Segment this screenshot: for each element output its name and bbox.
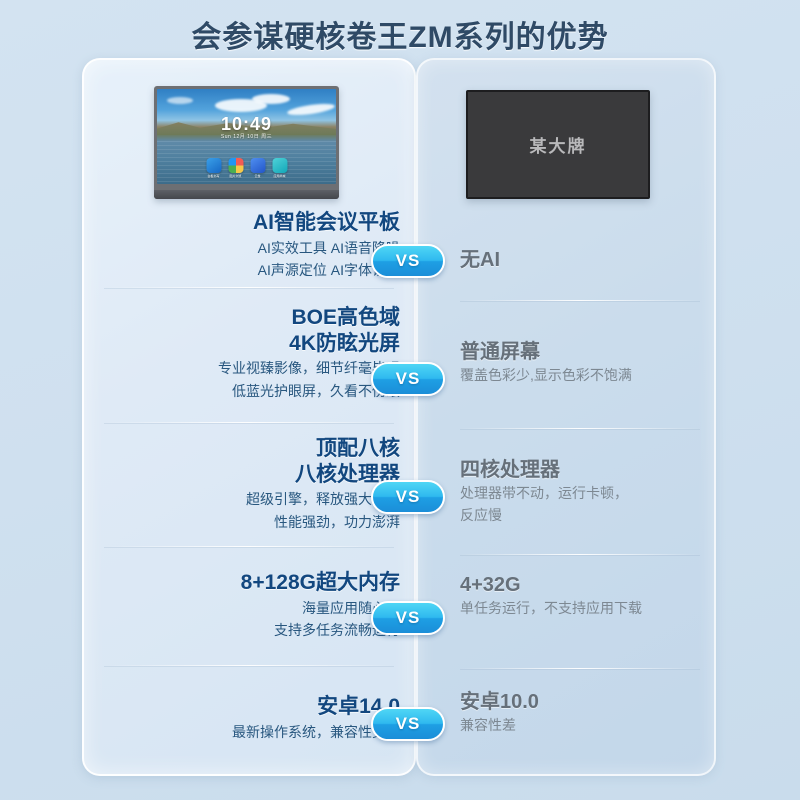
feature-row-right-2: 普通屏幕 覆盖色彩少,显示色彩不饱满 bbox=[460, 340, 710, 386]
divider-right bbox=[460, 428, 700, 429]
feature-row-right-4: 4+32G 单任务运行，不支持应用下载 bbox=[460, 573, 710, 619]
vs-badge-4: VS bbox=[371, 601, 445, 635]
feature-row-right-3: 四核处理器 处理器带不动，运行卡顿， 反应慢 bbox=[460, 458, 710, 525]
product-device-image: 10:49 Sun 12月 10日 周三 白板书写 图片浏览 云盘 应用商城 bbox=[154, 86, 339, 199]
feature-subline: 专业视臻影像，细节纤毫毕现 bbox=[100, 358, 400, 378]
vs-badge-3: VS bbox=[371, 480, 445, 514]
feature-row-right-5: 安卓10.0 兼容性差 bbox=[460, 690, 710, 736]
feature-headline: 安卓14.0 bbox=[100, 694, 400, 720]
rival-device-image: 某大牌 bbox=[466, 90, 650, 199]
feature-subline: 性能强劲，功力澎湃 bbox=[100, 512, 400, 532]
rival-subline: 兼容性差 bbox=[460, 716, 710, 736]
feature-row-left-3: 顶配八核 八核处理器 超级引擎，释放强大算力 性能强劲，功力澎湃 bbox=[100, 436, 400, 532]
dock-app-label: 应用商城 bbox=[272, 174, 287, 178]
divider-left bbox=[104, 665, 394, 666]
rival-headline: 普通屏幕 bbox=[460, 340, 710, 364]
dock-app-label: 云盘 bbox=[250, 174, 265, 178]
gallery-icon bbox=[228, 158, 243, 173]
rival-subline: 反应慢 bbox=[460, 506, 710, 526]
device-date: Sun 12月 10日 周三 bbox=[157, 133, 336, 140]
divider-right bbox=[460, 668, 700, 669]
divider-right bbox=[460, 554, 700, 555]
divider-right bbox=[460, 300, 700, 301]
feature-row-left-5: 安卓14.0 最新操作系统，兼容性更强 bbox=[100, 694, 400, 742]
dock-app-label: 白板书写 bbox=[206, 174, 221, 178]
feature-row-left-2: BOE高色域 4K防眩光屏 专业视臻影像，细节纤毫毕现 低蓝光护眼屏，久看不伤眼 bbox=[100, 305, 400, 401]
rival-headline: 4+32G bbox=[460, 573, 710, 597]
dock-app: 应用商城 bbox=[272, 158, 287, 178]
device-dock: 白板书写 图片浏览 云盘 应用商城 bbox=[206, 158, 287, 178]
feature-headline: AI智能会议平板 bbox=[100, 210, 400, 236]
rival-headline: 四核处理器 bbox=[460, 458, 710, 482]
dock-app: 云盘 bbox=[250, 158, 265, 178]
cloud-drive-icon bbox=[250, 158, 265, 173]
dock-app-label: 图片浏览 bbox=[228, 174, 243, 178]
feature-subline: 支持多任务流畅运行 bbox=[100, 620, 400, 640]
vs-badge-5: VS bbox=[371, 707, 445, 741]
feature-row-right-1: 无AI bbox=[460, 248, 710, 272]
feature-headline: BOE高色域 bbox=[100, 305, 400, 331]
rival-headline: 安卓10.0 bbox=[460, 690, 710, 714]
divider-left bbox=[104, 287, 394, 288]
feature-headline: 4K防眩光屏 bbox=[100, 331, 400, 357]
rival-subline: 处理器带不动，运行卡顿， bbox=[460, 484, 710, 504]
feature-headline: 8+128G超大内存 bbox=[100, 570, 400, 596]
vs-badge-1: VS bbox=[371, 244, 445, 278]
feature-headline: 八核处理器 bbox=[100, 462, 400, 488]
feature-subline: 超级引擎，释放强大算力 bbox=[100, 489, 400, 509]
dock-app: 白板书写 bbox=[206, 158, 221, 178]
rival-subline: 覆盖色彩少,显示色彩不饱满 bbox=[460, 366, 710, 386]
feature-subline: 海量应用随心下 bbox=[100, 598, 400, 618]
device-screen: 10:49 Sun 12月 10日 周三 白板书写 图片浏览 云盘 应用商城 bbox=[157, 89, 336, 184]
device-clock: 10:49 bbox=[157, 114, 336, 135]
device-bezel-bottom bbox=[154, 190, 339, 199]
app-store-icon bbox=[272, 158, 287, 173]
divider-left bbox=[104, 422, 394, 423]
cloud-shape-icon bbox=[167, 97, 193, 104]
rival-device-label: 某大牌 bbox=[530, 132, 587, 157]
whiteboard-icon bbox=[206, 158, 221, 173]
divider-left bbox=[104, 546, 394, 547]
feature-subline: 低蓝光护眼屏，久看不伤眼 bbox=[100, 381, 400, 401]
feature-subline: AI声源定位 AI字体识别 bbox=[100, 260, 400, 280]
page-title: 会参谋硬核卷王ZM系列的优势 bbox=[0, 12, 800, 56]
feature-subline: AI实效工具 AI语音降噪 bbox=[100, 238, 400, 258]
vs-badge-2: VS bbox=[371, 362, 445, 396]
rival-subline: 单任务运行，不支持应用下载 bbox=[460, 599, 710, 619]
dock-app: 图片浏览 bbox=[228, 158, 243, 178]
rival-headline: 无AI bbox=[460, 248, 710, 272]
feature-headline: 顶配八核 bbox=[100, 436, 400, 462]
feature-subline: 最新操作系统，兼容性更强 bbox=[100, 722, 400, 742]
feature-row-left-4: 8+128G超大内存 海量应用随心下 支持多任务流畅运行 bbox=[100, 570, 400, 640]
cloud-shape-icon bbox=[252, 94, 290, 104]
feature-row-left-1: AI智能会议平板 AI实效工具 AI语音降噪 AI声源定位 AI字体识别 bbox=[100, 210, 400, 280]
